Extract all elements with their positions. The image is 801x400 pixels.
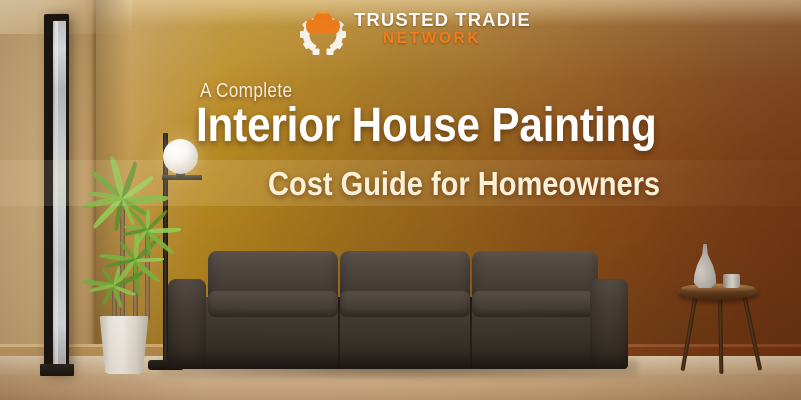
hero-banner: TRUSTED TRADIE NETWORK A Complete Interi… [0,0,801,400]
page-subtitle: Cost Guide for Homeowners [268,166,660,202]
mirror-glass [53,21,66,366]
sofa-arm-right [590,279,628,369]
sofa-seat-cushion [340,291,470,317]
sofa-seam [470,297,472,369]
trusted-tradie-gear-roof-icon [298,8,348,56]
page-title: Interior House Painting [196,100,657,152]
plant-pot [98,316,150,374]
sofa-arm-left [168,279,206,369]
sofa-seat-cushion [208,291,338,317]
cup [723,274,740,288]
mirror-stand-foot [40,364,74,376]
full-length-mirror [44,14,69,374]
logo-line-1: TRUSTED TRADIE [354,9,510,30]
logo-wordmark: TRUSTED TRADIE NETWORK [354,9,510,48]
logo-line-2: NETWORK [354,30,510,48]
modular-sofa [168,251,628,371]
sofa-seam [338,297,340,369]
sofa-seat-cushion [472,291,598,317]
brand-logo[interactable]: TRUSTED TRADIE NETWORK [298,6,508,58]
floor-lamp-globe [163,139,198,174]
side-table-top-highlight [681,284,755,292]
